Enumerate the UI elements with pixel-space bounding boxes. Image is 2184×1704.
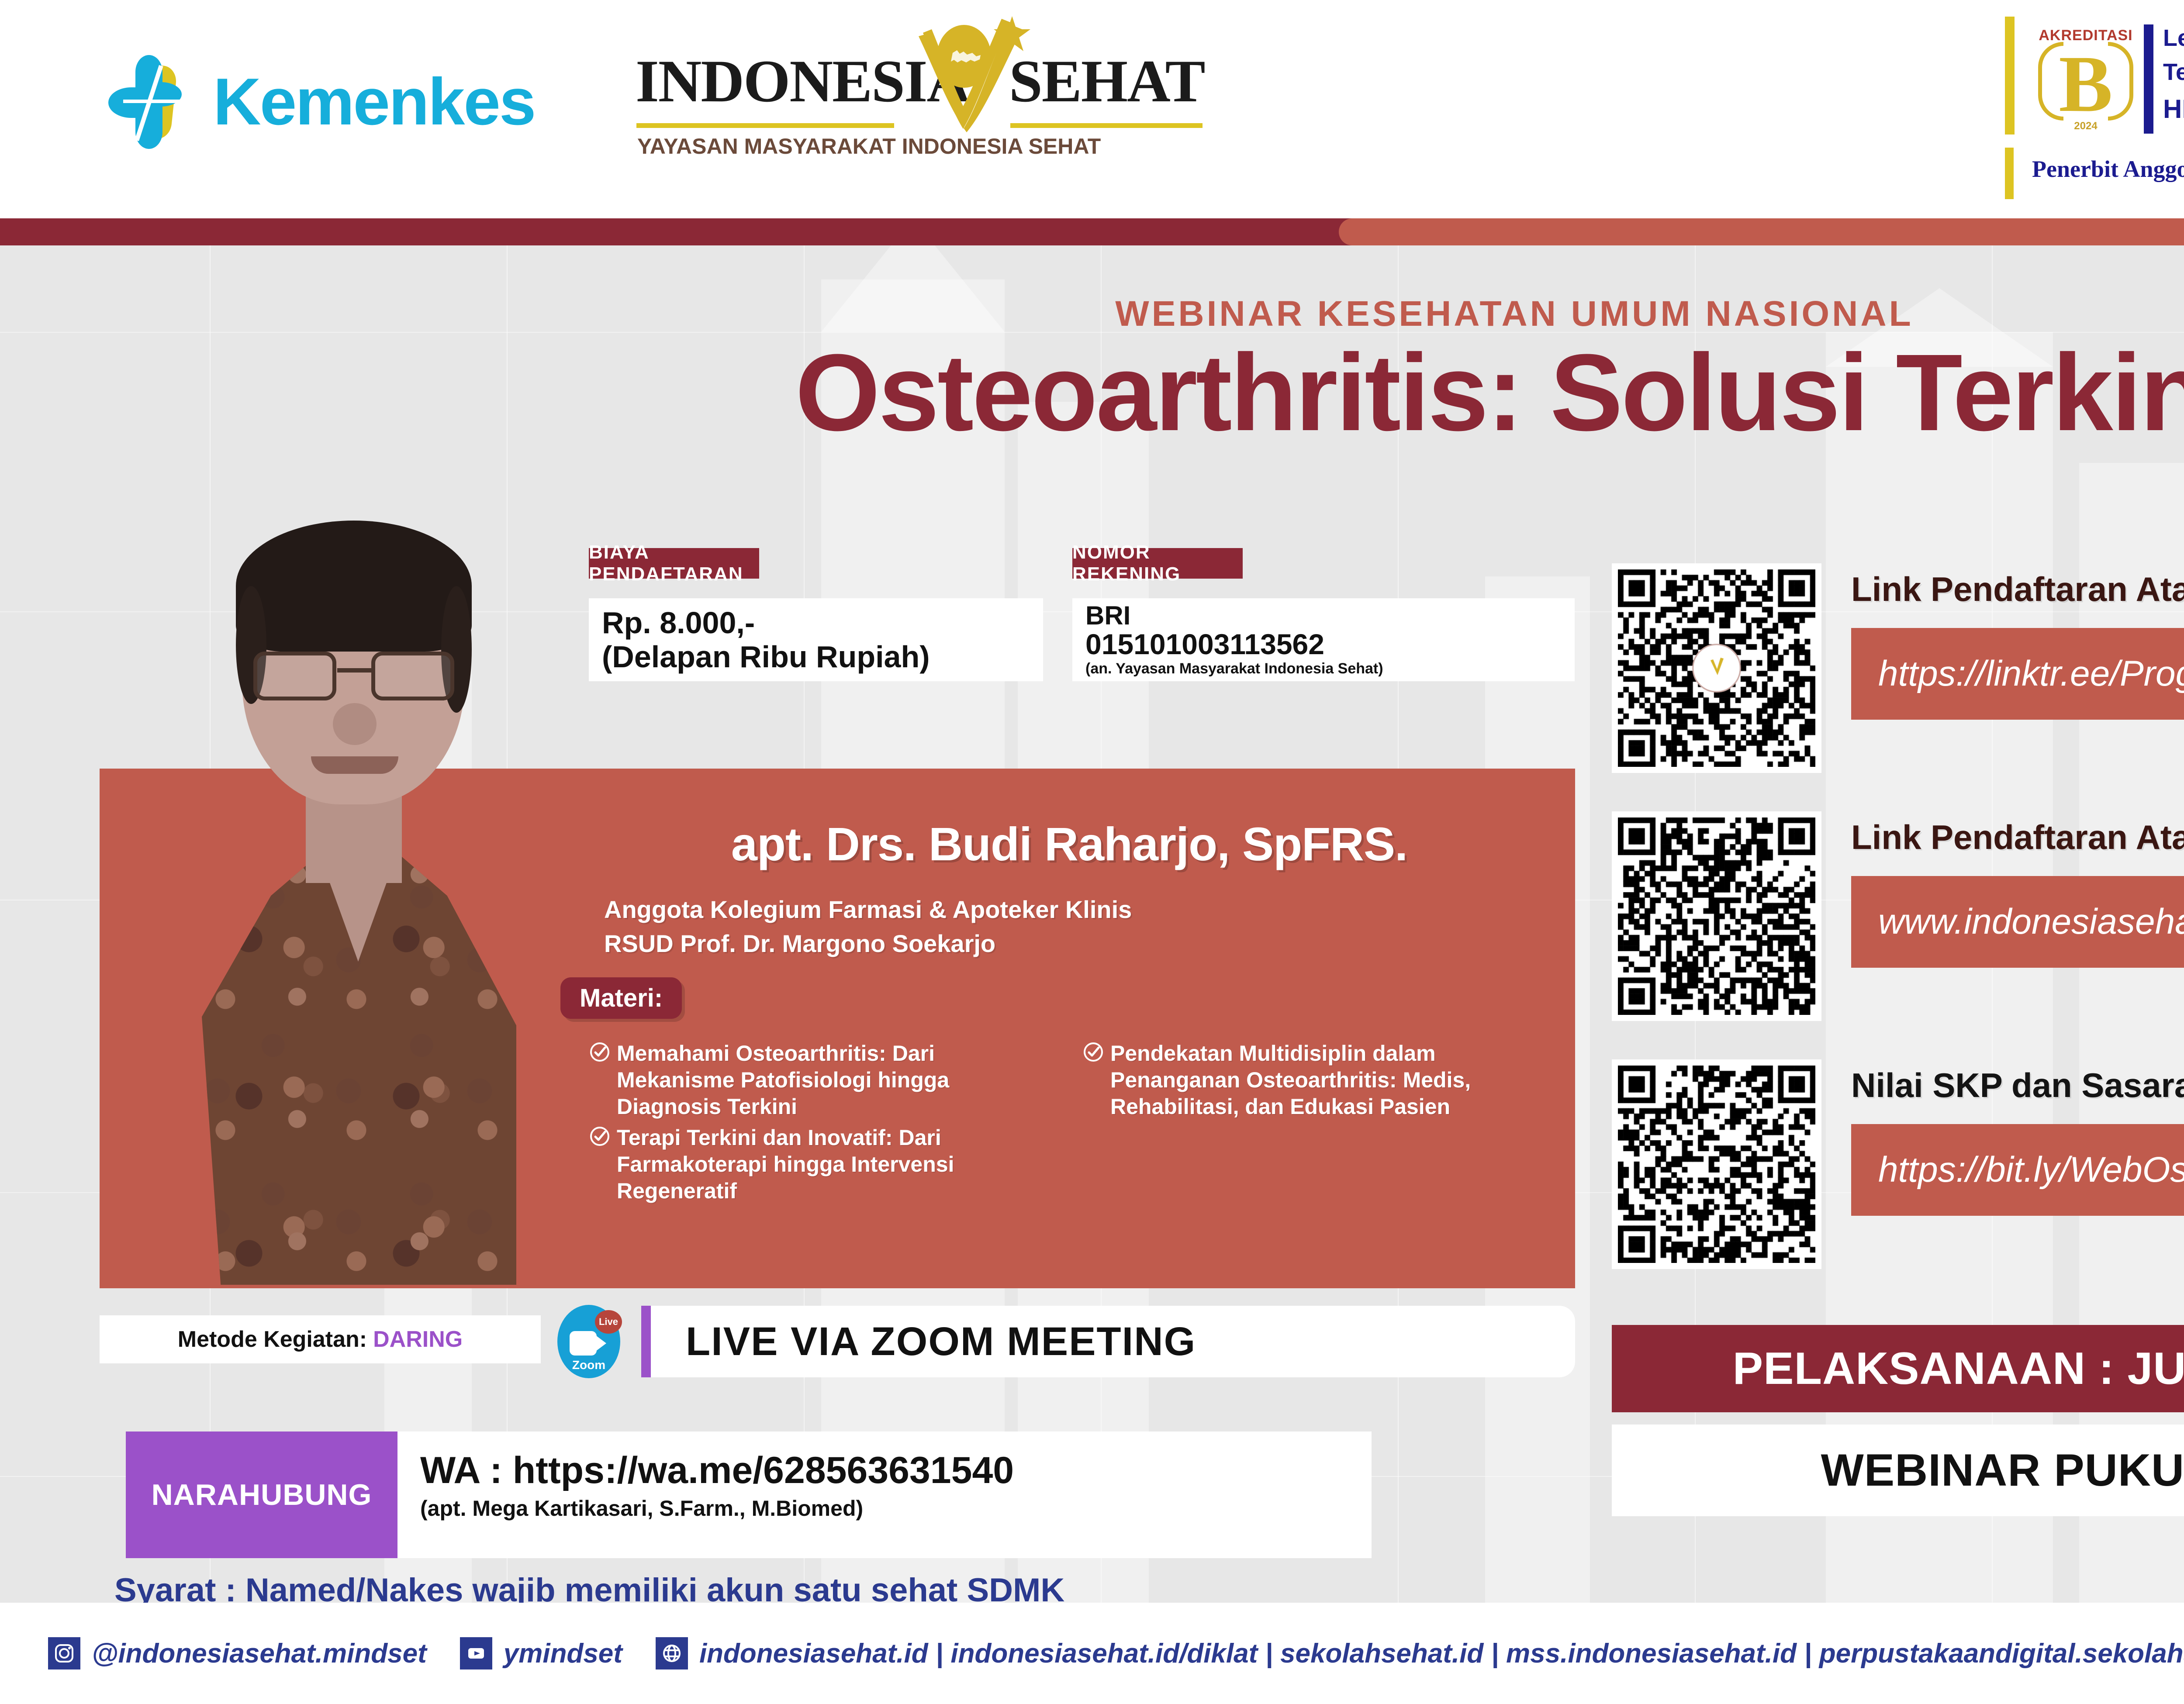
poster-header: Kemenkes INDONESIA SEHAT YAYASAN MASYARA… [0,0,2184,218]
fee-box: Rp. 8.000,- (Delapan Ribu Rupiah) [589,598,1043,681]
kemenkes-wordmark: Kemenkes [213,69,535,135]
poster-footer: @indonesiasehat.mindset ymindset indon [0,1603,2184,1704]
ikapi-membership-text: Penerbit Anggota IKAPI, No Anggota: 240/… [2032,155,2184,183]
footer-item-websites[interactable]: indonesiasehat.id | indonesiasehat.id/di… [656,1637,2184,1670]
header-band-light [1339,218,2184,245]
speaker-name: apt. Drs. Budi Raharjo, SpFRS. [598,817,1541,871]
zoom-live-text: Live [599,1316,618,1328]
link-title-2: Link Pendaftaran Atau Scan QR Code: [1851,818,2184,857]
accreditation-line-2: Terakreditasi B oleh Kementrian Kesehata… [2163,55,2184,89]
link-title-3: Nilai SKP dan Sasaran Peserta [1851,1066,2184,1105]
fee-tag: BIAYA PENDAFTARAN [589,548,759,579]
zoom-icon: Live Zoom [554,1305,624,1378]
logo-rule-left [636,123,894,128]
webinar-poster: Kemenkes INDONESIA SEHAT YAYASAN MASYARA… [0,0,2184,1704]
fee-amount-words: (Delapan Ribu Rupiah) [602,640,1030,674]
materi-item-text: Memahami Osteoarthritis: Dari Mekanisme … [617,1040,1057,1120]
globe-icon [656,1637,688,1670]
footer-item-instagram[interactable]: @indonesiasehat.mindset [48,1637,427,1670]
link-url-2[interactable]: www.indonesiasehat.id/agenda/ [1851,876,2184,968]
link-url-1[interactable]: https://linktr.ee/ProgramYmindset [1851,628,2184,720]
accreditation-decree-number: HK.02.02/F/3078/2024 [2163,90,2184,129]
check-circle-icon [590,1042,610,1062]
accreditation-text: Lembaga Penyelenggara Pelatihan Bidang K… [2163,21,2184,129]
indonesia-sehat-tagline: YAYASAN MASYARAKAT INDONESIA SEHAT [637,134,1101,159]
materi-item: Pendekatan Multidisiplin dalam Penangana… [1083,1040,1551,1120]
materi-badge: Materi: [560,977,682,1019]
account-number: 015101003113562 [1085,629,1562,659]
materi-item-text: Terapi Terkini dan Inovatif: Dari Farmak… [617,1125,1057,1204]
page-title: Osteoarthritis: Solusi Terkini [0,335,2184,450]
accreditation-blue-bar [2144,24,2153,134]
speaker-affiliation-2: RSUD Prof. Dr. Margono Soekarjo [604,929,995,958]
account-box: BRI 015101003113562 (an. Yayasan Masyara… [1072,598,1575,681]
youtube-icon [460,1637,492,1670]
eyebrow-title: WEBINAR KESEHATAN UMUM NASIONAL [0,293,2184,335]
method-label: Metode Kegiatan: [178,1326,367,1352]
accreditation-block: AKREDITASI B 2024 Lembaga Penyelenggara … [2005,17,2184,148]
check-circle-icon [1083,1042,1103,1062]
speaker-affiliation-1: Anggota Kolegium Farmasi & Apoteker Klin… [604,895,1132,924]
link-title-1: Link Pendaftaran Atau Scan QR Code: [1851,569,2184,609]
method-value: DARING [373,1326,463,1352]
materi-column-2: Pendekatan Multidisiplin dalam Penangana… [1083,1040,1551,1209]
accreditation-gold-bar [2005,17,2015,135]
indonesia-sehat-word-right: SEHAT [1009,46,1205,116]
accreditation-medal-icon: AKREDITASI B 2024 [2031,21,2140,137]
zoom-accent-bar [641,1306,651,1377]
check-circle-icon [590,1126,610,1146]
indonesia-sehat-logo: INDONESIA SEHAT YAYASAN MASYARAKAT INDON… [636,40,1203,167]
schedule-date: PELAKSANAAN : JUMAT, 12 SEPTEMBER 2025 [1612,1325,2184,1412]
materi-column-1: Memahami Osteoarthritis: Dari Mekanisme … [590,1040,1057,1209]
kemenkes-logo: Kemenkes [108,52,576,152]
medal-grade: B [2059,44,2112,124]
materi-item: Terapi Terkini dan Inovatif: Dari Farmak… [590,1125,1057,1204]
accreditation-line-1: Lembaga Penyelenggara Pelatihan Bidang K… [2163,21,2184,55]
account-holder: (an. Yayasan Masyarakat Indonesia Sehat) [1085,660,1562,678]
speaker-photo [202,521,516,1285]
materi-columns: Memahami Osteoarthritis: Dari Mekanisme … [590,1040,1551,1209]
footer-websites: indonesiasehat.id | indonesiasehat.id/di… [699,1638,2184,1669]
zoom-wordmark: Zoom [554,1358,624,1372]
qr-code-agenda[interactable] [1612,811,1821,1021]
live-via-zoom-text: LIVE VIA ZOOM MEETING [651,1306,1575,1377]
account-bank: BRI [1085,602,1562,629]
instagram-icon [48,1637,80,1670]
materi-item-text: Pendekatan Multidisiplin dalam Penangana… [1110,1040,1551,1120]
qr-code-linktree[interactable] [1612,563,1821,773]
materi-item: Memahami Osteoarthritis: Dari Mekanisme … [590,1040,1057,1120]
contact-person: (apt. Mega Kartikasari, S.Farm., M.Biome… [420,1495,1372,1521]
footer-item-youtube[interactable]: ymindset [460,1637,622,1670]
method-box: Metode Kegiatan: DARING [100,1315,541,1363]
footer-youtube-handle: ymindset [504,1638,622,1669]
fee-amount: Rp. 8.000,- [602,606,1030,640]
qr-code-skp[interactable] [1612,1059,1821,1269]
link-url-3[interactable]: https://bit.ly/WebOsteoArth [1851,1124,2184,1216]
logo-rule-right [1010,123,1203,128]
contact-whatsapp[interactable]: WA : https://wa.me/628563631540 [420,1451,1372,1490]
zoom-live-badge: Live [595,1310,622,1334]
ikapi-gold-bar [2005,148,2014,199]
kemenkes-flower-icon [108,55,196,149]
footer-instagram-handle: @indonesiasehat.mindset [92,1638,427,1669]
contact-tag: NARAHUBUNG [126,1431,397,1558]
contact-box: WA : https://wa.me/628563631540 (apt. Me… [397,1431,1372,1558]
schedule-time: WEBINAR PUKUL 13.00 WIB - SELESAI [1612,1425,2184,1516]
account-tag: NOMOR REKENING [1072,548,1243,579]
medal-year: 2024 [2074,120,2097,132]
